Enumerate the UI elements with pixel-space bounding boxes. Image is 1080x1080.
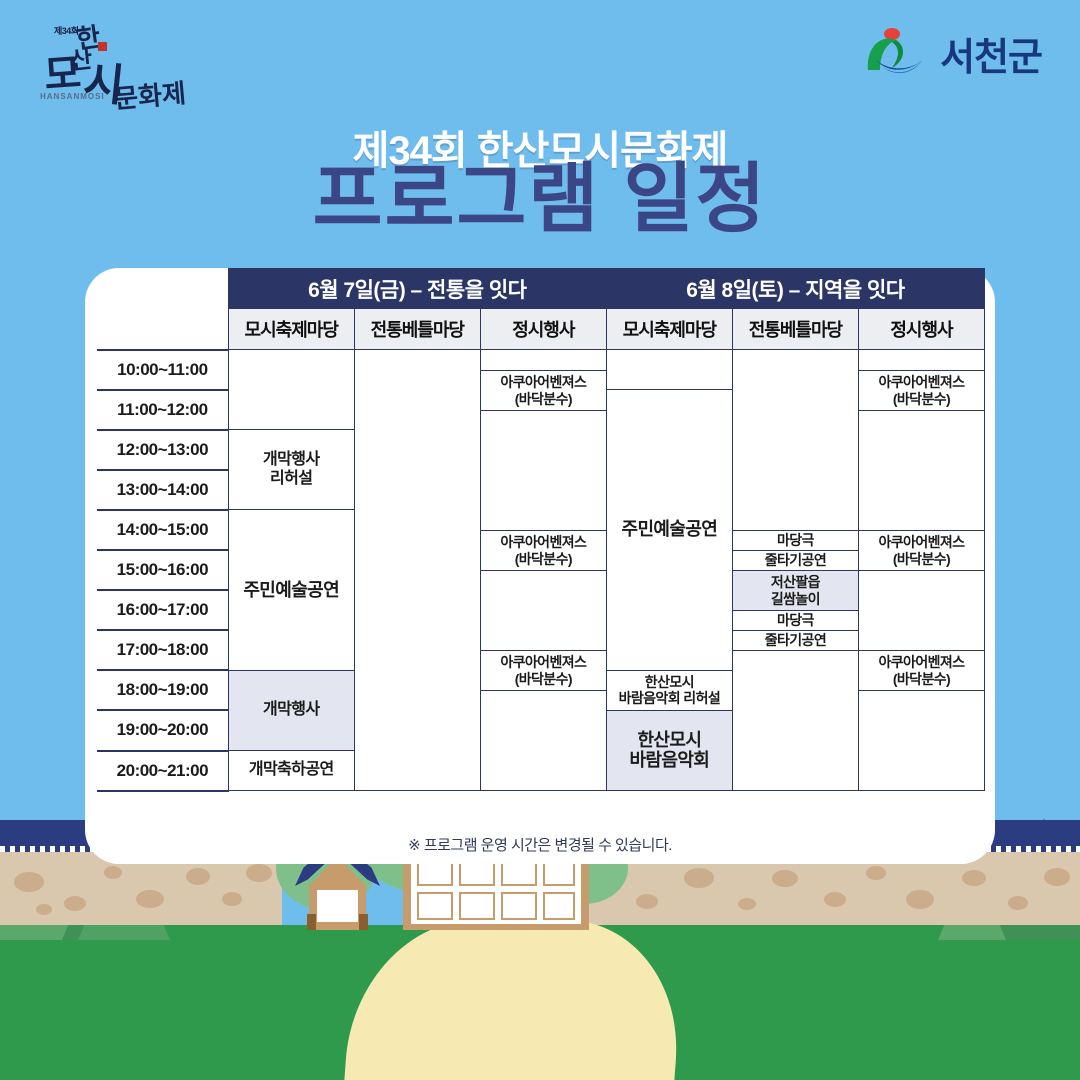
event-aqua-adventures: 아쿠아어벤져스(바닥분수): [859, 370, 984, 410]
cell-fri-moshi-opening: 개막행사: [228, 670, 354, 750]
page-title: 프로그램 일정: [0, 160, 1080, 240]
cell-fri-moshi-empty-1: [228, 350, 354, 430]
time-label: 10:00~11:00: [97, 350, 228, 390]
cell-sat-jeongsi: 아쿠아어벤져스(바닥분수)아쿠아어벤져스(바닥분수)아쿠아어벤져스(바닥분수): [858, 350, 984, 791]
empty-slot: [481, 410, 606, 530]
time-label: 20:00~21:00: [97, 751, 228, 791]
time-label: 11:00~12:00: [97, 390, 228, 430]
cell-sat-moshi-community: 주민예술공연: [606, 390, 732, 671]
festival-logo-romanized: HANSANMOSI: [40, 92, 105, 101]
event-madanggeuk: 마당극: [733, 610, 858, 630]
schedule-card: 6월 7일(금) – 전통을 잇다 6월 8일(토) – 지역을 잇다 모시축제…: [85, 268, 995, 864]
empty-slot: [859, 350, 984, 370]
event-jultagi: 줄타기공연: [733, 550, 858, 570]
venue-header-sat-moshi: 모시축제마당: [606, 309, 732, 350]
venue-header-sat-jeongsi: 정시행사: [858, 309, 984, 350]
table-corner-blank: [97, 269, 228, 309]
cell-sat-betle: 마당극줄타기공연저산팔읍길쌈놀이마당극줄타기공연: [732, 350, 858, 791]
festival-logo-seal-icon: [98, 42, 107, 51]
event-aqua-adventures: 아쿠아어벤져스(바닥분수): [859, 650, 984, 690]
time-label: 19:00~20:00: [97, 710, 228, 750]
day-header-friday: 6월 7일(금) – 전통을 잇다: [228, 269, 606, 309]
cell-sat-moshi-empty-1: [606, 350, 732, 390]
empty-slot: [859, 410, 984, 530]
venue-header-fri-moshi: 모시축제마당: [228, 309, 354, 350]
schedule-table: 6월 7일(금) – 전통을 잇다 6월 8일(토) – 지역을 잇다 모시축제…: [97, 268, 985, 792]
cell-fri-jeongsi: 아쿠아어벤져스(바닥분수)아쿠아어벤져스(바닥분수)아쿠아어벤져스(바닥분수): [480, 350, 606, 791]
day-header-saturday: 6월 8일(토) – 지역을 잇다: [606, 269, 984, 309]
venue-header-sat-betle: 전통베틀마당: [732, 309, 858, 350]
event-aqua-adventures: 아쿠아어벤져스(바닥분수): [481, 650, 606, 690]
time-label: 16:00~17:00: [97, 590, 228, 630]
empty-slot: [481, 350, 606, 370]
event-aqua-adventures: 아쿠아어벤져스(바닥분수): [481, 370, 606, 410]
event-aqua-adventures: 아쿠아어벤져스(바닥분수): [859, 530, 984, 570]
cell-fri-moshi-community: 주민예술공연: [228, 510, 354, 670]
event-jultagi: 줄타기공연: [733, 630, 858, 650]
time-label: 17:00~18:00: [97, 630, 228, 670]
time-label: 18:00~19:00: [97, 670, 228, 710]
venue-header-fri-jeongsi: 정시행사: [480, 309, 606, 350]
empty-slot: [859, 690, 984, 790]
time-label: 15:00~16:00: [97, 550, 228, 590]
empty-slot: [481, 690, 606, 790]
table-row-day-header: 6월 7일(금) – 전통을 잇다 6월 8일(토) – 지역을 잇다: [97, 269, 985, 309]
cell-fri-moshi-rehearsal: 개막행사리허설: [228, 430, 354, 510]
event-gilssam-nori: 저산팔읍길쌈놀이: [733, 570, 858, 610]
schedule-table-wrap: 6월 7일(금) – 전통을 잇다 6월 8일(토) – 지역을 잇다 모시축제…: [85, 268, 995, 792]
festival-logo-munhwaje: 문화제: [113, 73, 188, 116]
empty-slot: [481, 570, 606, 650]
table-corner-blank-2: [97, 309, 228, 350]
schedule-footnote: ※ 프로그램 운영 시간은 변경될 수 있습니다.: [85, 834, 995, 855]
cell-fri-moshi-celebration: 개막축하공연: [228, 751, 354, 791]
cell-sat-moshi-concert: 한산모시바람음악회: [606, 710, 732, 790]
table-row: 10:00~11:00 아쿠아어벤져스(바닥분수)아쿠아어벤져스(바닥분수)아쿠…: [97, 350, 985, 390]
time-label: 12:00~13:00: [97, 430, 228, 470]
festival-logo: 제34회 한 산 모 시 문화제 HANSANMOSI: [26, 18, 194, 110]
poster-root: 제34회 한 산 모 시 문화제 HANSANMOSI 서천군 제34회 한산모…: [0, 0, 1080, 1080]
time-label: 13:00~14:00: [97, 470, 228, 510]
empty-slot: [733, 350, 858, 530]
table-row-venue-header: 모시축제마당 전통베틀마당 정시행사 모시축제마당 전통베틀마당 정시행사: [97, 309, 985, 350]
county-name-label: 서천군: [940, 26, 1042, 81]
venue-header-fri-betle: 전통베틀마당: [354, 309, 480, 350]
empty-slot: [733, 650, 858, 790]
cell-fri-betle-empty: [354, 350, 480, 791]
time-label: 14:00~15:00: [97, 510, 228, 550]
event-madanggeuk: 마당극: [733, 530, 858, 550]
event-aqua-adventures: 아쿠아어벤져스(바닥분수): [481, 530, 606, 570]
empty-slot: [859, 570, 984, 650]
cell-sat-moshi-concert-rehearsal: 한산모시바람음악회 리허설: [606, 670, 732, 710]
county-logo: 서천군: [862, 24, 1042, 82]
seocheon-emblem-icon: [862, 26, 926, 80]
